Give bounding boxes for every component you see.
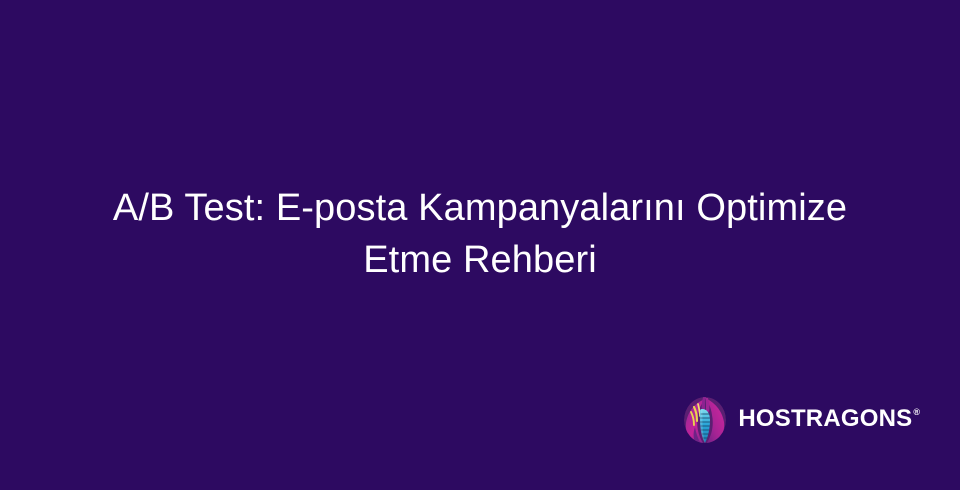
article-header-banner: A/B Test: E-posta Kampanyalarını Optimiz… [0, 0, 960, 490]
title-block: A/B Test: E-posta Kampanyalarını Optimiz… [0, 182, 960, 286]
brand-wordmark-text: HOSTRAGONS [738, 407, 912, 431]
brand-wordmark: HOSTRAGONS ® [738, 407, 920, 431]
page-title: A/B Test: E-posta Kampanyalarını Optimiz… [72, 182, 888, 286]
hostragons-dragon-icon [681, 393, 729, 445]
brand-logo-lockup: HOSTRAGONS ® [681, 392, 920, 446]
registered-trademark-symbol: ® [913, 408, 920, 417]
